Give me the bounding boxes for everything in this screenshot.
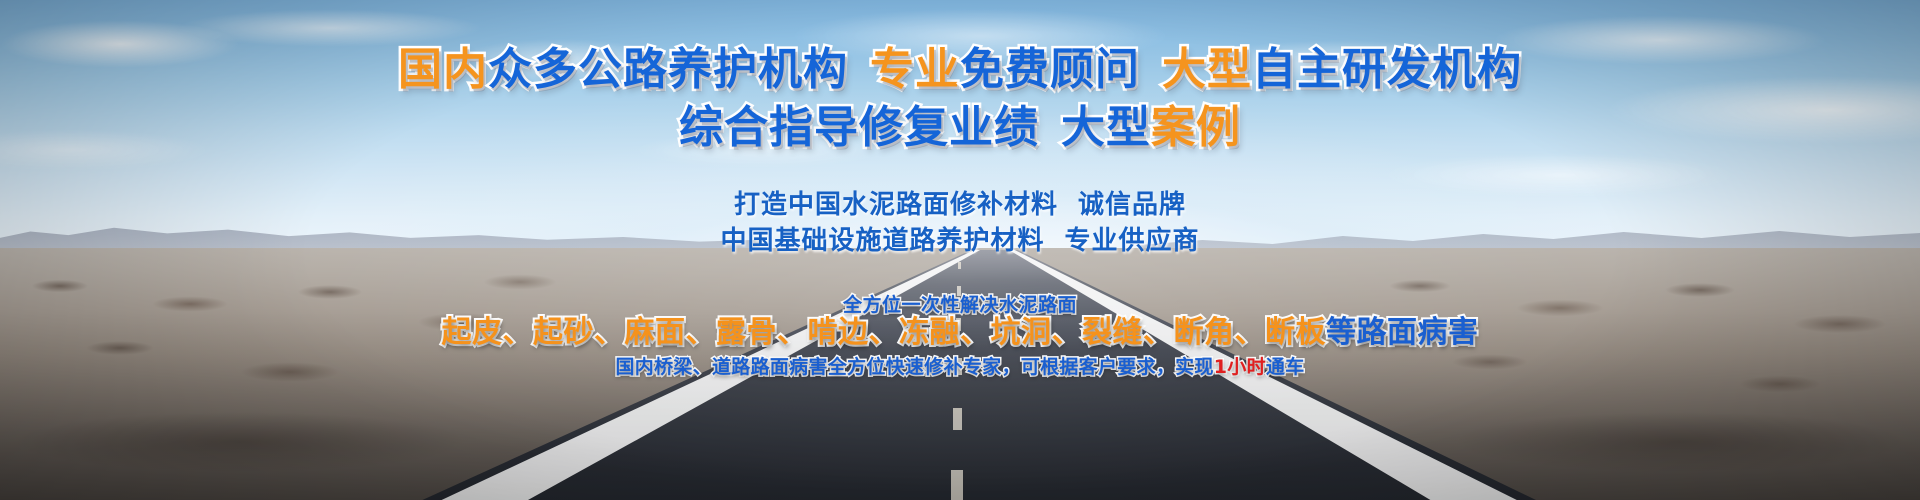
subheadline-2-supplier: 专业供应商 <box>1065 226 1200 256</box>
headline-2-seg-large: 大型 <box>1061 102 1151 153</box>
headline-secondary: 综合指导修复业绩大型案例 <box>0 106 1920 150</box>
subheadline-2: 中国基础设施道路养护材料专业供应商 <box>0 228 1920 254</box>
subheadline-1-brand: 诚信品牌 <box>1078 190 1186 220</box>
road-line-3-prefix: 国内桥梁、道路路面病害全方位快速修补专家，可根据客户要求，实现 <box>615 356 1213 378</box>
defect-list-tail: 等路面病害 <box>1326 315 1479 350</box>
road-line-3-highlight: 1小时 <box>1214 356 1266 378</box>
banner-text-layer: 国内众多公路养护机构专业免费顾问大型自主研发机构 综合指导修复业绩大型案例 打造… <box>0 0 1920 500</box>
subheadline-1: 打造中国水泥路面修补材料诚信品牌 <box>0 192 1920 218</box>
headline-1-seg-domestic: 国内 <box>398 44 488 95</box>
headline-2-seg-guidance: 综合指导修复业绩 <box>679 102 1039 153</box>
promo-banner: 国内众多公路养护机构专业免费顾问大型自主研发机构 综合指导修复业绩大型案例 打造… <box>0 0 1920 500</box>
headline-1-seg-large-scale: 大型 <box>1162 44 1252 95</box>
defect-list: 起皮、起砂、麻面、露骨、啃边、冻融、坑洞、裂缝、断角、断板 <box>442 315 1327 350</box>
headline-1-seg-agencies: 众多公路养护机构 <box>488 44 848 95</box>
road-text-line-1: 全方位一次性解决水泥路面 <box>0 296 1920 315</box>
headline-1-seg-free-consult: 免费顾问 <box>960 44 1140 95</box>
road-line-3-suffix: 通车 <box>1266 356 1305 378</box>
headline-1-seg-professional: 专业 <box>870 44 960 95</box>
headline-2-seg-cases: 案例 <box>1151 102 1241 153</box>
headline-primary: 国内众多公路养护机构专业免费顾问大型自主研发机构 <box>0 48 1920 92</box>
subheadline-1-main: 打造中国水泥路面修补材料 <box>734 190 1058 220</box>
subheadline-2-main: 中国基础设施道路养护材料 <box>720 226 1044 256</box>
headline-1-seg-rnd-agency: 自主研发机构 <box>1252 44 1522 95</box>
road-text-line-3: 国内桥梁、道路路面病害全方位快速修补专家，可根据客户要求，实现1小时通车 <box>0 358 1920 377</box>
road-text-defect-list: 起皮、起砂、麻面、露骨、啃边、冻融、坑洞、裂缝、断角、断板等路面病害 <box>0 318 1920 348</box>
